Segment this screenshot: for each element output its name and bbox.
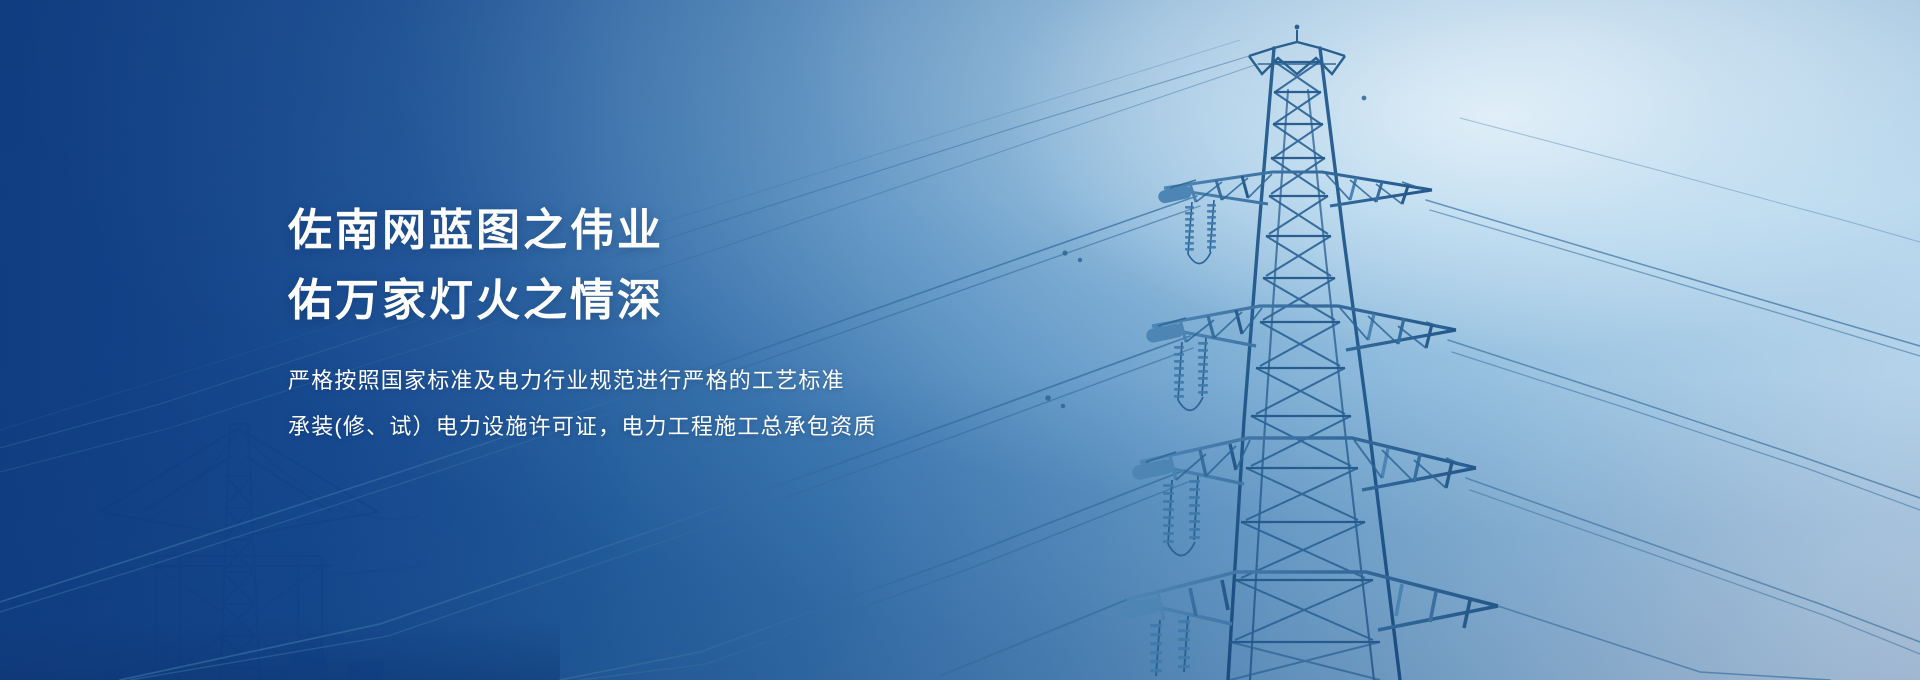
subheadline-line-1: 严格按照国家标准及电力行业规范进行严格的工艺标准 [288, 358, 1088, 404]
banner-copy-block: 佐南网蓝图之伟业 佑万家灯火之情深 严格按照国家标准及电力行业规范进行严格的工艺… [288, 196, 1088, 450]
subheadline-line-2: 承装(修、试）电力设施许可证，电力工程施工总承包资质 [288, 404, 1088, 450]
insulator-string [1117, 596, 1190, 676]
headline-line-1: 佐南网蓝图之伟业 [288, 196, 1088, 266]
headline-line-2: 佑万家灯火之情深 [288, 266, 1088, 336]
insulator-string [1157, 185, 1216, 264]
subheadline-group: 严格按照国家标准及电力行业规范进行严格的工艺标准 承装(修、试）电力设施许可证，… [288, 358, 1088, 450]
hero-banner: 佐南网蓝图之伟业 佑万家灯火之情深 严格按照国家标准及电力行业规范进行严格的工艺… [0, 0, 1920, 680]
